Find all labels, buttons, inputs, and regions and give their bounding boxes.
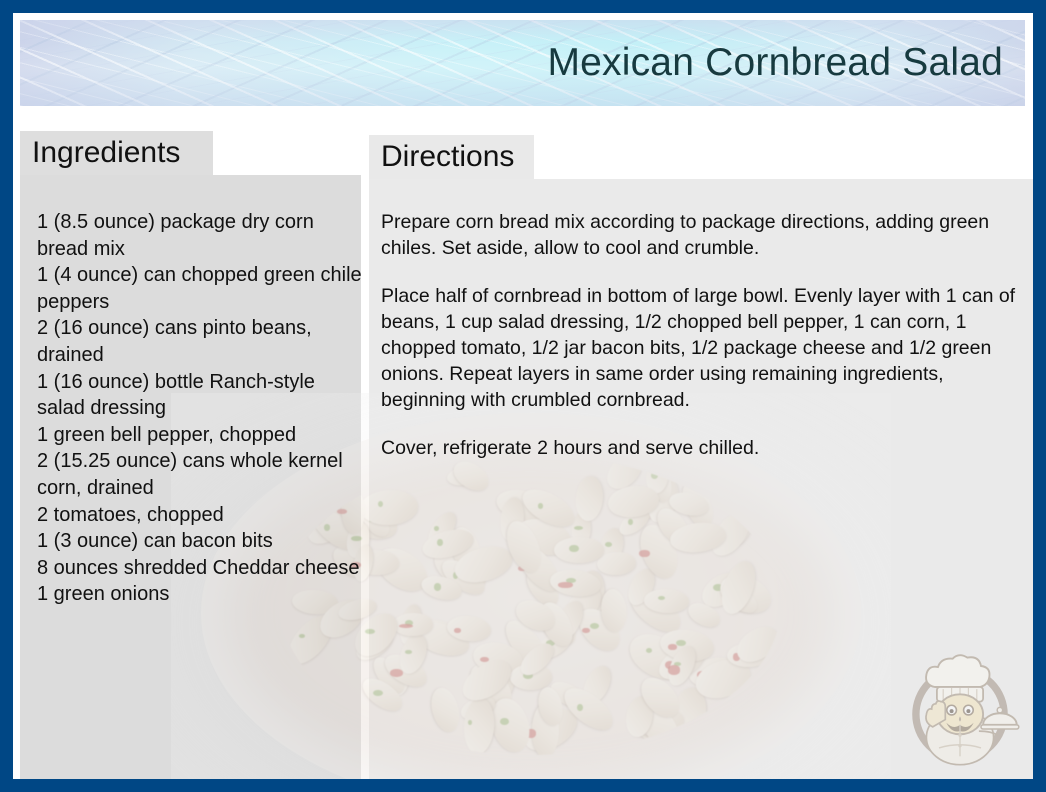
ingredient-item: 2 tomatoes, chopped xyxy=(37,502,367,529)
ingredient-item: 2 (16 ounce) cans pinto beans, drained xyxy=(37,315,367,368)
ingredients-heading: Ingredients xyxy=(32,136,180,170)
ingredient-item: 1 (3 ounce) can bacon bits xyxy=(37,528,367,555)
chef-mascot-logo xyxy=(897,645,1023,771)
ingredient-item: 2 (15.25 ounce) cans whole kernel corn, … xyxy=(37,448,367,501)
ingredients-list: 1 (8.5 ounce) package dry corn bread mix… xyxy=(37,209,367,608)
ingredient-item: 1 (16 ounce) bottle Ranch-style salad dr… xyxy=(37,369,367,422)
directions-heading: Directions xyxy=(381,140,514,174)
title-banner: Mexican Cornbread Salad xyxy=(20,20,1025,106)
ingredient-item: 8 ounces shredded Cheddar cheese xyxy=(37,555,367,582)
ingredients-tab: Ingredients xyxy=(20,131,213,175)
directions-tab: Directions xyxy=(369,135,534,179)
card-inner: Mexican Cornbread Salad Ingredients Dire… xyxy=(13,13,1033,779)
directions-text: Prepare corn bread mix according to pack… xyxy=(381,209,1019,461)
direction-paragraph: Place half of cornbread in bottom of lar… xyxy=(381,283,1019,413)
ingredient-item: 1 (4 ounce) can chopped green chile pepp… xyxy=(37,262,367,315)
recipe-card: Mexican Cornbread Salad Ingredients Dire… xyxy=(0,0,1046,792)
ingredient-item: 1 green onions xyxy=(37,581,367,608)
direction-paragraph: Prepare corn bread mix according to pack… xyxy=(381,209,1019,261)
ingredient-item: 1 green bell pepper, chopped xyxy=(37,422,367,449)
recipe-title: Mexican Cornbread Salad xyxy=(547,41,1003,85)
ingredient-item: 1 (8.5 ounce) package dry corn bread mix xyxy=(37,209,367,262)
direction-paragraph: Cover, refrigerate 2 hours and serve chi… xyxy=(381,435,1019,461)
